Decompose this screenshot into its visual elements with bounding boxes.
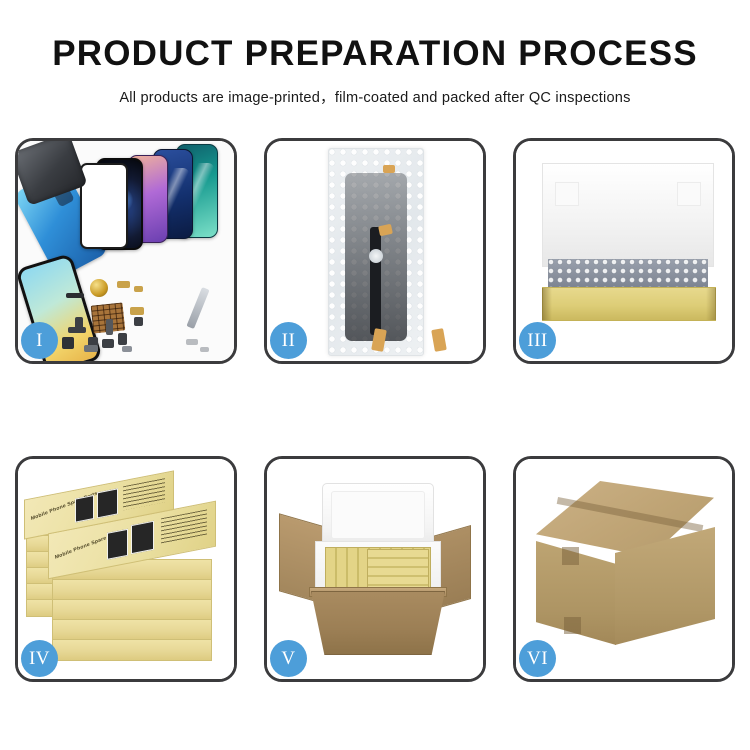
process-step-panel-6[interactable]: VI: [513, 456, 735, 682]
part-icon: [102, 339, 114, 348]
part-icon: [106, 319, 113, 335]
part-icon: [186, 339, 198, 345]
tape-icon: [371, 328, 387, 352]
part-icon: [117, 281, 130, 288]
screwdriver-icon: [186, 287, 209, 329]
part-icon: [68, 327, 86, 333]
foam-lid-icon: [322, 483, 434, 547]
page-title: PRODUCT PREPARATION PROCESS: [0, 36, 750, 73]
tape-icon: [431, 328, 447, 352]
glass-screen-protector-icon: [80, 163, 128, 249]
box-side-icon: [52, 579, 212, 601]
page-subtitle: All products are image-printed，film-coat…: [0, 86, 750, 107]
carton-tape-icon: [562, 547, 579, 565]
step-badge-3: III: [519, 322, 556, 359]
tape-icon: [383, 165, 395, 173]
flex-cable-icon: [370, 227, 381, 335]
process-step-panel-1[interactable]: I: [15, 138, 237, 364]
box-lid-icon: [542, 163, 714, 267]
part-icon: [122, 346, 132, 352]
carton-front-icon: [311, 591, 445, 655]
part-icon: [66, 293, 84, 298]
packed-yellow-boxes-icon: [367, 549, 429, 589]
box-spec-lines-icon: [161, 509, 207, 544]
part-icon: [130, 307, 144, 315]
part-icon: [200, 347, 209, 352]
lid-tab-icon: [677, 182, 701, 206]
box-art-screen-icon: [97, 488, 118, 518]
yellow-box-tray-icon: [542, 287, 716, 321]
bubble-wrap-fill-icon: [548, 259, 708, 289]
box-side-icon: [52, 639, 212, 661]
step-badge-6: VI: [519, 640, 556, 677]
part-icon: [62, 337, 74, 349]
process-step-panel-3[interactable]: III: [513, 138, 735, 364]
part-icon: [134, 286, 143, 292]
box-art-screen-icon: [131, 521, 154, 554]
box-side-icon: [52, 619, 212, 641]
lid-tab-icon: [555, 182, 579, 206]
box-art-screen-icon: [107, 529, 128, 560]
part-icon: [84, 345, 98, 352]
carton-tape-icon: [564, 617, 581, 634]
camera-cutout-icon: [369, 249, 383, 263]
bubble-wrap-bag-icon: [328, 148, 424, 356]
process-step-panel-5[interactable]: V: [264, 456, 486, 682]
process-step-panel-2[interactable]: II: [264, 138, 486, 364]
box-spec-lines-icon: [123, 478, 165, 510]
speaker-coin-icon: [90, 279, 108, 297]
part-icon: [118, 333, 127, 345]
process-steps-grid: I II: [15, 138, 735, 682]
step-badge-1: I: [21, 322, 58, 359]
step-badge-2: II: [270, 322, 307, 359]
part-icon: [134, 317, 143, 326]
box-art-screen-icon: [75, 495, 94, 523]
page-header: PRODUCT PREPARATION PROCESS All products…: [0, 0, 750, 107]
process-step-panel-4[interactable]: Mobile Phone Spare Parts Mobile Phone Sp…: [15, 456, 237, 682]
box-side-icon: [52, 599, 212, 621]
step-badge-4: IV: [21, 640, 58, 677]
step-badge-5: V: [270, 640, 307, 677]
